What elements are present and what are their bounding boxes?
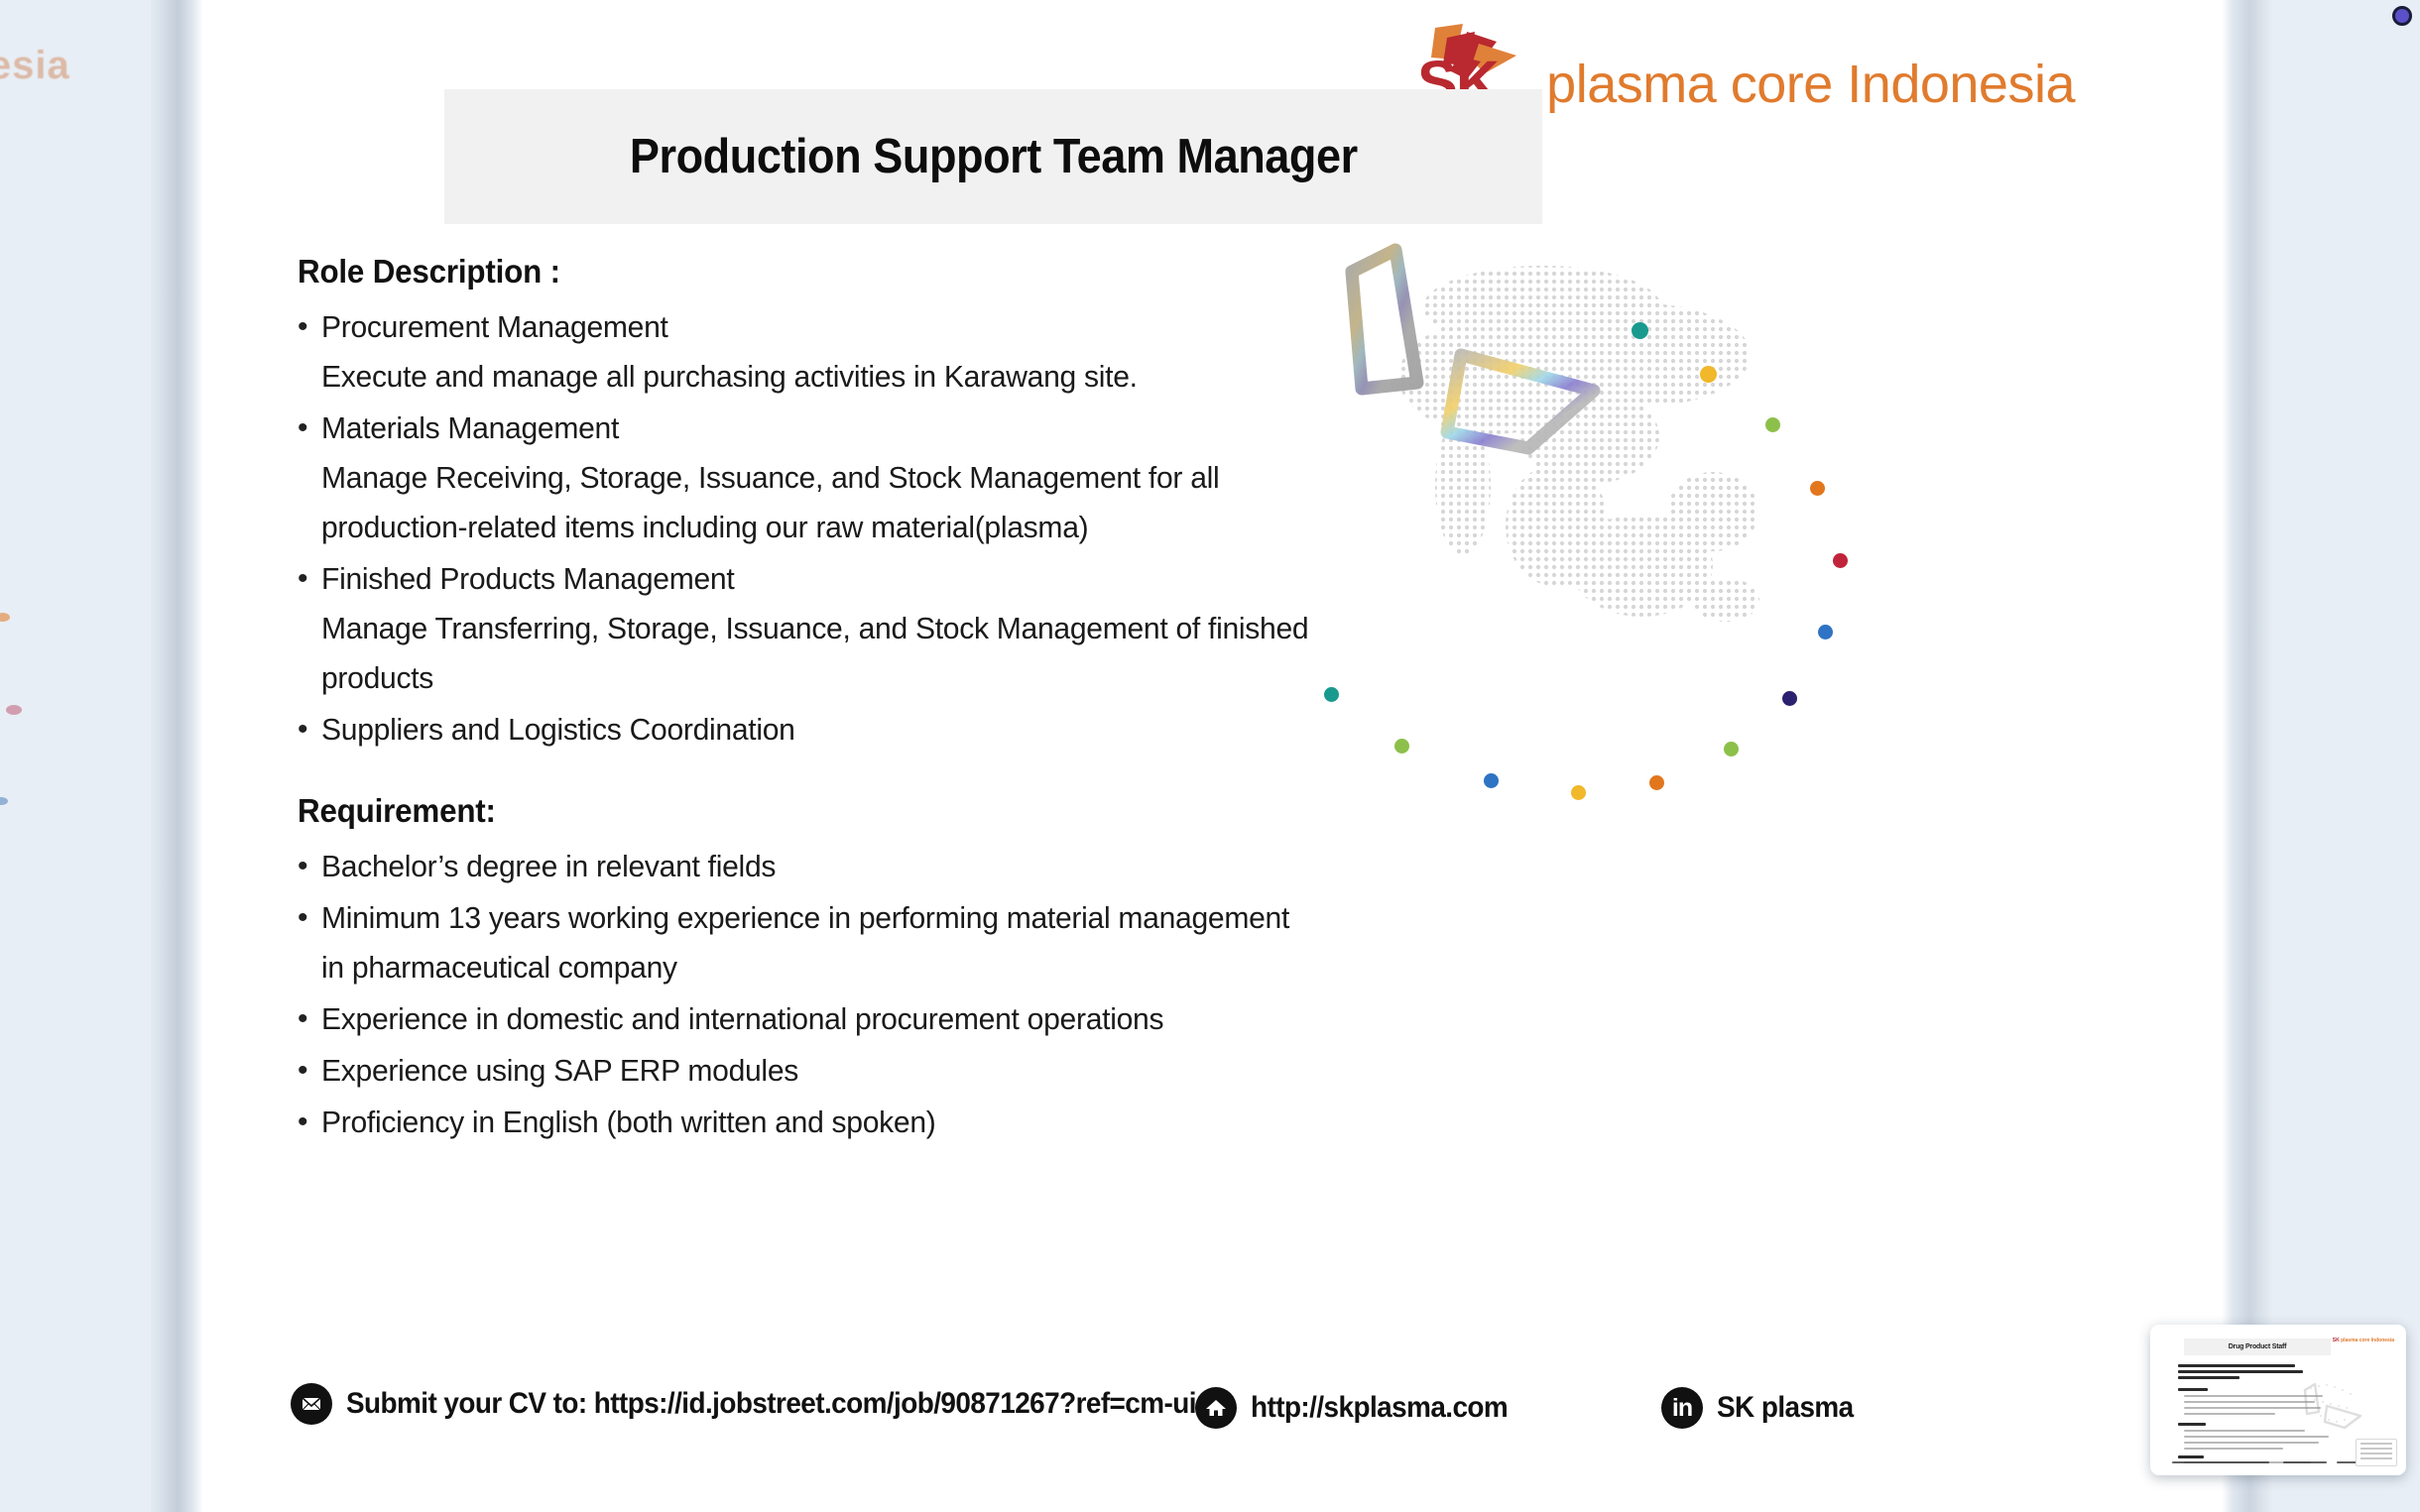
thumbnail-text-line — [2178, 1370, 2303, 1373]
thumbnail-title-box: Drug Product Staff — [2184, 1338, 2331, 1355]
submit-cv-label: Submit your CV to: https://id.jobstreet.… — [346, 1387, 1196, 1421]
accent-dot — [1571, 785, 1586, 800]
accent-dot — [1782, 691, 1797, 706]
thumbnail-text-line — [2184, 1413, 2275, 1415]
thumbnail-section-head — [2178, 1423, 2206, 1426]
list-item-title: Finished Products Management — [321, 554, 1386, 604]
linkedin-icon-glyph: in — [1672, 1396, 1692, 1421]
linkedin-label: SK plasma — [1717, 1391, 1854, 1425]
slide-gutter-left — [151, 0, 203, 1512]
previous-slide-peek[interactable]: onesia — [0, 0, 151, 1512]
bullet-icon: • — [298, 1046, 321, 1096]
role-description-heading: Role Description : — [298, 253, 1363, 291]
list-item-detail: Execute and manage all purchasing activi… — [321, 352, 1386, 402]
website-link[interactable]: http://skplasma.com — [1195, 1387, 1527, 1429]
accent-dot — [1810, 481, 1825, 496]
thumbnail-globe-graphic — [2291, 1370, 2386, 1442]
slide-gutter-right — [2222, 0, 2273, 1512]
list-item-title: Suppliers and Logistics Coordination — [321, 705, 1386, 755]
logo-wordmark: plasma core Indonesia — [1546, 58, 2075, 113]
linkedin-link[interactable]: in SK plasma — [1661, 1387, 1864, 1429]
slide-body: Role Description : • Procurement Managem… — [298, 253, 1418, 1149]
current-slide: SK plasma core Indonesia Production Supp… — [203, 0, 2222, 1512]
website-label: http://skplasma.com — [1251, 1391, 1508, 1425]
list-item: • Minimum 13 years working experience in… — [298, 893, 1418, 992]
accent-dot — [1833, 553, 1848, 568]
thumbnail-title: Drug Product Staff — [2229, 1343, 2287, 1350]
thumbnail-canvas: Drug Product Staff SK plasma core Indone… — [2156, 1331, 2400, 1469]
envelope-icon — [291, 1383, 332, 1425]
accent-dot — [1394, 739, 1409, 754]
list-item-detail: in pharmaceutical company — [321, 943, 1386, 992]
list-item: • Finished Products Management Manage Tr… — [298, 554, 1418, 703]
thumbnail-text-line — [2178, 1376, 2239, 1379]
page-title: Production Support Team Manager — [630, 129, 1358, 184]
list-item: • Proficiency in English (both written a… — [298, 1098, 1418, 1147]
list-item: • Suppliers and Logistics Coordination — [298, 705, 1418, 755]
cursor-indicator — [2392, 6, 2412, 26]
bullet-icon: • — [298, 705, 321, 755]
list-item: • Experience in domestic and internation… — [298, 994, 1418, 1044]
list-item-title: Materials Management — [321, 404, 1386, 453]
prev-accent-dot — [0, 797, 8, 805]
thumbnail-section-head — [2178, 1455, 2204, 1458]
role-description-list: • Procurement Management Execute and man… — [298, 302, 1418, 755]
list-item-title: Experience using SAP ERP modules — [321, 1046, 1386, 1096]
accent-dot — [1818, 625, 1833, 640]
accent-dot — [1724, 742, 1739, 756]
next-slide-peek[interactable]: S — [2273, 0, 2420, 1512]
thumbnail-text-line — [2184, 1401, 2315, 1403]
list-item: • Materials Management Manage Receiving,… — [298, 404, 1418, 552]
thumbnail-footer-line — [2172, 1461, 2269, 1463]
accent-dot — [1484, 773, 1499, 788]
thumbnail-logo-word: plasma core Indonesia — [2341, 1338, 2394, 1343]
thumbnail-logo: SK plasma core Indonesia — [2333, 1338, 2394, 1343]
thumbnail-footer-line — [2283, 1461, 2327, 1463]
thumbnail-logo-sk: SK — [2333, 1338, 2340, 1343]
list-item-detail: products — [321, 653, 1386, 703]
accent-dot — [1632, 322, 1648, 339]
accent-dot — [1700, 366, 1717, 383]
thumbnail-text-line — [2184, 1442, 2319, 1444]
bullet-icon: • — [298, 554, 321, 604]
home-icon — [1195, 1387, 1237, 1429]
section-spacer — [298, 756, 1418, 792]
thumbnail-inset-card — [2356, 1439, 2397, 1466]
bullet-icon: • — [298, 302, 321, 352]
bullet-icon: • — [298, 994, 321, 1044]
previous-slide-brand-text: onesia — [0, 44, 70, 88]
requirement-heading: Requirement: — [298, 792, 1363, 830]
submit-cv-link[interactable]: Submit your CV to: https://id.jobstreet.… — [291, 1383, 1260, 1425]
slide-footer: Submit your CV to: https://id.jobstreet.… — [203, 1383, 2222, 1453]
bullet-icon: • — [298, 842, 321, 891]
dotted-world-map-graphic — [1344, 238, 1899, 674]
list-item-title: Experience in domestic and international… — [321, 994, 1386, 1044]
thumbnail-section-head — [2178, 1388, 2208, 1391]
list-item: • Procurement Management Execute and man… — [298, 302, 1418, 402]
list-item-title: Proficiency in English (both written and… — [321, 1098, 1386, 1147]
slideshow-viewport: onesia SK plasma core Indonesia Produ — [0, 0, 2420, 1512]
list-item-detail: production-related items including our r… — [321, 503, 1386, 552]
thumbnail-text-line — [2178, 1364, 2295, 1367]
thumbnail-text-line — [2184, 1395, 2323, 1397]
thumbnail-text-line — [2184, 1430, 2305, 1432]
bullet-icon: • — [298, 893, 321, 943]
list-item-detail: Manage Receiving, Storage, Issuance, and… — [321, 453, 1386, 503]
slide-title-box: Production Support Team Manager — [444, 89, 1542, 224]
accent-dot — [1649, 775, 1664, 790]
accent-dot — [1765, 417, 1780, 432]
list-item-detail: Manage Transferring, Storage, Issuance, … — [321, 604, 1386, 653]
requirement-list: • Bachelor’s degree in relevant fields •… — [298, 842, 1418, 1147]
bullet-icon: • — [298, 404, 321, 453]
prev-accent-dot — [6, 705, 22, 715]
linkedin-icon: in — [1661, 1387, 1703, 1429]
bullet-icon: • — [298, 1098, 321, 1147]
list-item: • Bachelor’s degree in relevant fields — [298, 842, 1418, 891]
accent-dot — [1324, 687, 1339, 702]
list-item-title: Procurement Management — [321, 302, 1386, 352]
list-item-title: Bachelor’s degree in relevant fields — [321, 842, 1386, 891]
thumbnail-text-line — [2184, 1407, 2321, 1409]
thumbnail-text-line — [2184, 1436, 2329, 1438]
prev-accent-dot — [0, 613, 10, 622]
list-item: • Experience using SAP ERP modules — [298, 1046, 1418, 1096]
list-item-title: Minimum 13 years working experience in p… — [321, 893, 1386, 943]
next-slide-thumbnail-preview[interactable]: Drug Product Staff SK plasma core Indone… — [2150, 1325, 2406, 1475]
thumbnail-text-line — [2184, 1448, 2283, 1450]
